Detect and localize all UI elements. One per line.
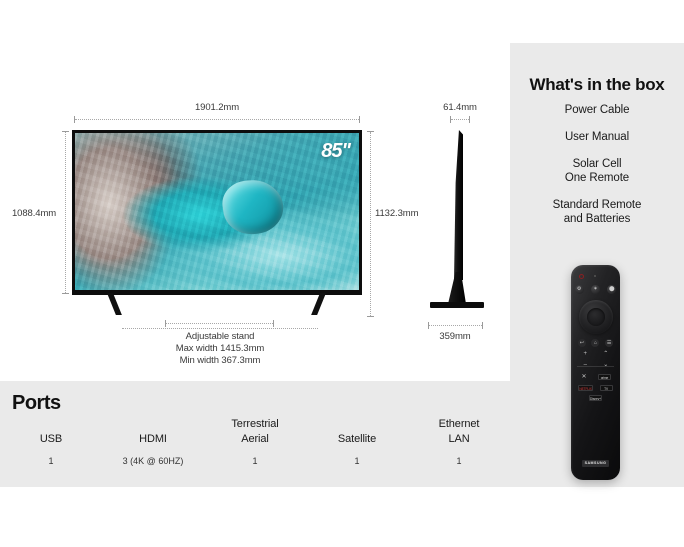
front-width-dimension-line <box>74 116 360 123</box>
port-column-hdmi: HDMI 3 (4K @ 60HZ) <box>102 417 204 466</box>
directional-pad <box>579 300 613 334</box>
box-list-item: Solar Cell One Remote <box>510 157 684 185</box>
tv-side-view <box>430 130 490 315</box>
prime-video-button: prime <box>598 374 611 380</box>
side-stand-depth-dimension-line <box>428 322 483 329</box>
side-stand-depth-dimension-label: 359mm <box>415 331 495 342</box>
remote-control: ⚙ ✶ ⬤ ↩ ⌂ ☰ + ⌃ – ⌄ <box>571 265 620 480</box>
port-label-line-2: LAN <box>408 432 510 447</box>
front-total-height-dimension-label: 1132.3mm <box>375 208 418 219</box>
remote-nav-section: ↩ ⌂ ☰ + ⌃ – ⌄ <box>571 339 620 372</box>
port-value: 3 (4K @ 60HZ) <box>102 456 204 466</box>
front-height-dimension-line <box>62 131 69 294</box>
box-item-line-1: User Manual <box>510 130 684 144</box>
whats-in-the-box-panel: What's in the box Power Cable User Manua… <box>510 43 684 487</box>
whats-in-the-box-title: What's in the box <box>510 75 684 95</box>
screen-size-badge: 85" <box>321 140 350 163</box>
tv-stand-leg-right <box>311 293 326 315</box>
tv-stand-foot <box>430 302 484 308</box>
remote-brand-label: SAMSUNG <box>582 460 609 467</box>
ambient-icon: ✶ <box>591 285 600 294</box>
tv-front-view: 85" <box>72 130 362 295</box>
port-column-terrestrial-aerial: Terrestrial Aerial 1 <box>204 417 306 466</box>
mute-icon: ✕ <box>580 373 588 381</box>
box-list-item: Standard Remote and Batteries <box>510 198 684 226</box>
port-label: Terrestrial Aerial <box>204 417 306 446</box>
port-label: Ethernet LAN <box>408 417 510 446</box>
samsung-tv-plus-button: TV <box>600 385 613 391</box>
microphone-icon: ⬤ <box>607 285 616 294</box>
guide-icon: ☰ <box>605 339 613 347</box>
port-column-satellite: Satellite 1 <box>306 417 408 466</box>
port-value: 1 <box>204 456 306 466</box>
front-width-dimension-label: 1901.2mm <box>72 102 362 113</box>
stand-note-line-3: Min width 367.3mm <box>120 355 320 366</box>
settings-icon: ⚙ <box>575 285 584 294</box>
port-label: HDMI <box>102 417 204 446</box>
back-icon: ↩ <box>578 339 586 347</box>
port-column-usb: USB 1 <box>0 417 102 466</box>
port-label: USB <box>0 417 102 446</box>
port-value: 1 <box>306 456 408 466</box>
tv-side-panel <box>454 130 463 280</box>
port-label-line-1: Terrestrial <box>204 417 306 432</box>
remote-service-buttons: ✕ prime NETFLIX TV Disney+ <box>571 373 620 405</box>
port-value: 1 <box>0 456 102 466</box>
disney-plus-button: Disney+ <box>589 395 602 401</box>
home-icon: ⌂ <box>591 339 599 347</box>
volume-down-icon: – <box>581 361 589 369</box>
remote-top-button-row: ⚙ ✶ ⬤ <box>571 285 620 294</box>
port-label-line-2: Aerial <box>204 432 306 447</box>
port-label: Satellite <box>306 417 408 446</box>
ports-grid: USB 1 HDMI 3 (4K @ 60HZ) Terrestrial Aer… <box>0 417 510 466</box>
port-value: 1 <box>408 456 510 466</box>
box-item-line-2: and Batteries <box>510 212 684 226</box>
box-item-line-1: Standard Remote <box>510 198 684 212</box>
remote-service-row-1: ✕ prime <box>571 373 620 381</box>
tv-screen-image: 85" <box>75 133 359 290</box>
remote-nav-row: ↩ ⌂ ☰ <box>571 339 620 347</box>
whats-in-the-box-list: Power Cable User Manual Solar Cell One R… <box>510 103 684 239</box>
box-list-item: User Manual <box>510 130 684 144</box>
front-total-height-dimension-line <box>367 131 374 317</box>
remote-divider <box>577 366 614 367</box>
port-label-line-1: HDMI <box>102 432 204 447</box>
remote-service-row-3: Disney+ <box>571 395 620 401</box>
channel-down-icon: ⌄ <box>602 361 610 369</box>
power-icon <box>579 274 584 279</box>
netflix-button: NETFLIX <box>578 385 592 391</box>
side-depth-dimension-line <box>450 116 470 123</box>
side-depth-dimension-label: 61.4mm <box>420 102 500 113</box>
box-list-item: Power Cable <box>510 103 684 117</box>
port-label-line-1: Ethernet <box>408 417 510 432</box>
volume-up-icon: + <box>581 350 589 358</box>
box-item-line-2: One Remote <box>510 171 684 185</box>
spec-sheet-page: 1901.2mm 1088.4mm 1132.3mm 85" Adjustabl… <box>0 0 684 547</box>
stand-note-line-2: Max width 1415.3mm <box>120 343 320 354</box>
channel-up-icon: ⌃ <box>602 350 610 358</box>
port-label-line-1: USB <box>0 432 102 447</box>
box-item-line-1: Power Cable <box>510 103 684 117</box>
stand-max-width-dimension-line <box>122 325 318 332</box>
tv-stand-neck <box>448 272 466 304</box>
front-height-dimension-label: 1088.4mm <box>12 208 56 219</box>
port-column-ethernet-lan: Ethernet LAN 1 <box>408 417 510 466</box>
tv-stand-leg-left <box>107 293 122 315</box>
ports-panel: Ports USB 1 HDMI 3 (4K @ 60HZ) Terrestri… <box>0 381 510 487</box>
remote-volume-channel-row-2: – ⌄ <box>571 361 620 369</box>
remote-service-row-2: NETFLIX TV <box>571 385 620 391</box>
led-indicator-icon <box>594 275 596 277</box>
box-item-line-1: Solar Cell <box>510 157 684 171</box>
remote-volume-channel-row-1: + ⌃ <box>571 350 620 358</box>
port-label-line-1: Satellite <box>306 432 408 447</box>
ports-title: Ports <box>12 392 61 415</box>
stand-note-line-1: Adjustable stand <box>120 331 320 342</box>
